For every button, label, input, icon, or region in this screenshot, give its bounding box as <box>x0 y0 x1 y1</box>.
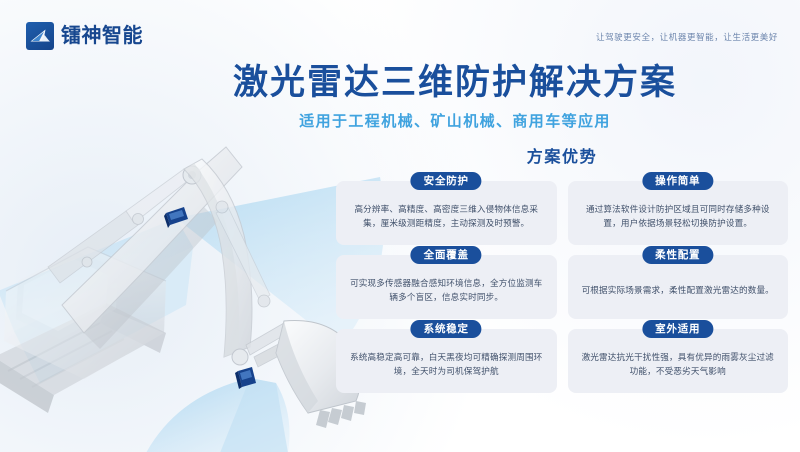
excavator-dipper-arm <box>184 159 270 365</box>
excavator-illustration <box>0 95 388 452</box>
advantage-card-easy-operation[interactable]: 操作简单 通过算法软件设计防护区域且可同时存储多种设置，用户依据场景轻松切换防护… <box>568 181 789 245</box>
hero-title-block: 激光雷达三维防护解决方案 适用于工程机械、矿山机械、商用车等应用 <box>120 63 790 131</box>
header-tagline: 让驾驶更安全，让机器更智能，让生活更美好 <box>596 31 778 43</box>
advantage-card-flexible-config[interactable]: 柔性配置 可根据实际场景需求，柔性配置激光雷达的数量。 <box>568 255 789 319</box>
advantage-badge: 系统稳定 <box>411 320 482 338</box>
advantage-card-system-stability[interactable]: 系统稳定 系统高稳定高可靠，白天黑夜均可精确探测周围环境，全天时为司机保驾护航 <box>336 329 557 393</box>
advantage-card-full-coverage[interactable]: 全面覆盖 可实现多传感器融合感知环境信息，全方位监测车辆多个盲区，信息实时同步。 <box>336 255 557 319</box>
advantage-badge: 操作简单 <box>642 172 713 190</box>
advantage-card-safety[interactable]: 安全防护 高分辨率、高精度、高密度三维入侵物体信息采集，厘米级测距精度，主动探测… <box>336 181 557 245</box>
advantage-text: 可实现多传感器融合感知环境信息，全方位监测车辆多个盲区，信息实时同步。 <box>349 277 544 305</box>
excavator-cab <box>4 247 166 379</box>
advantage-text: 激光雷达抗光干扰性强，具有优异的雨雾灰尘过滤功能，不受恶劣天气影响 <box>581 351 776 379</box>
advantage-card-outdoor-use[interactable]: 室外适用 激光雷达抗光干扰性强，具有优异的雨雾灰尘过滤功能，不受恶劣天气影响 <box>568 329 789 393</box>
advantage-badge: 室外适用 <box>642 320 713 338</box>
advantage-badge: 全面覆盖 <box>411 246 482 264</box>
lidar-scan-plane-body <box>14 247 193 383</box>
advantage-text: 系统高稳定高可靠，白天黑夜均可精确探测周围环境，全天时为司机保驾护航 <box>349 351 544 379</box>
advantages-panel: 方案优势 安全防护 高分辨率、高精度、高密度三维入侵物体信息采集，厘米级测距精度… <box>336 143 788 393</box>
leishen-arrow-logo-icon <box>26 22 54 50</box>
excavator-boom <box>48 147 242 349</box>
page-title: 激光雷达三维防护解决方案 <box>120 63 790 102</box>
advantage-text: 通过算法软件设计防护区域且可同时存储多种设置，用户依据场景轻松切换防护设置。 <box>581 203 776 231</box>
advantage-badge: 安全防护 <box>411 172 482 190</box>
advantage-badge: 柔性配置 <box>642 246 713 264</box>
lidar-scan-fan-lower-core <box>220 378 288 452</box>
advantages-heading: 方案优势 <box>336 143 788 167</box>
lidar-scan-fan-lower <box>146 378 290 452</box>
brand-logo[interactable]: 镭神智能 <box>26 22 143 50</box>
excavator-undercarriage <box>0 303 166 413</box>
slide-canvas: 镭神智能 让驾驶更安全，让机器更智能，让生活更美好 激光雷达三维防护解决方案 适… <box>0 0 800 452</box>
brand-name: 镭神智能 <box>61 26 143 46</box>
page-subtitle: 适用于工程机械、矿山机械、商用车等应用 <box>120 110 790 131</box>
advantage-text: 高分辨率、高精度、高密度三维入侵物体信息采集，厘米级测距精度，主动探测及时预警。 <box>349 203 544 231</box>
page-header: 镭神智能 让驾驶更安全，让机器更智能，让生活更美好 <box>0 0 800 62</box>
lidar-scan-plane-cab <box>0 218 193 331</box>
advantage-text: 可根据实际场景需求，柔性配置激光雷达的数量。 <box>582 284 774 298</box>
lidar-sensor-unit-bucket <box>235 367 256 389</box>
lidar-sensor-unit-boom <box>164 207 188 228</box>
advantages-card-grid: 安全防护 高分辨率、高精度、高密度三维入侵物体信息采集，厘米级测距精度，主动探测… <box>336 181 788 393</box>
excavator-linkage <box>246 323 294 367</box>
